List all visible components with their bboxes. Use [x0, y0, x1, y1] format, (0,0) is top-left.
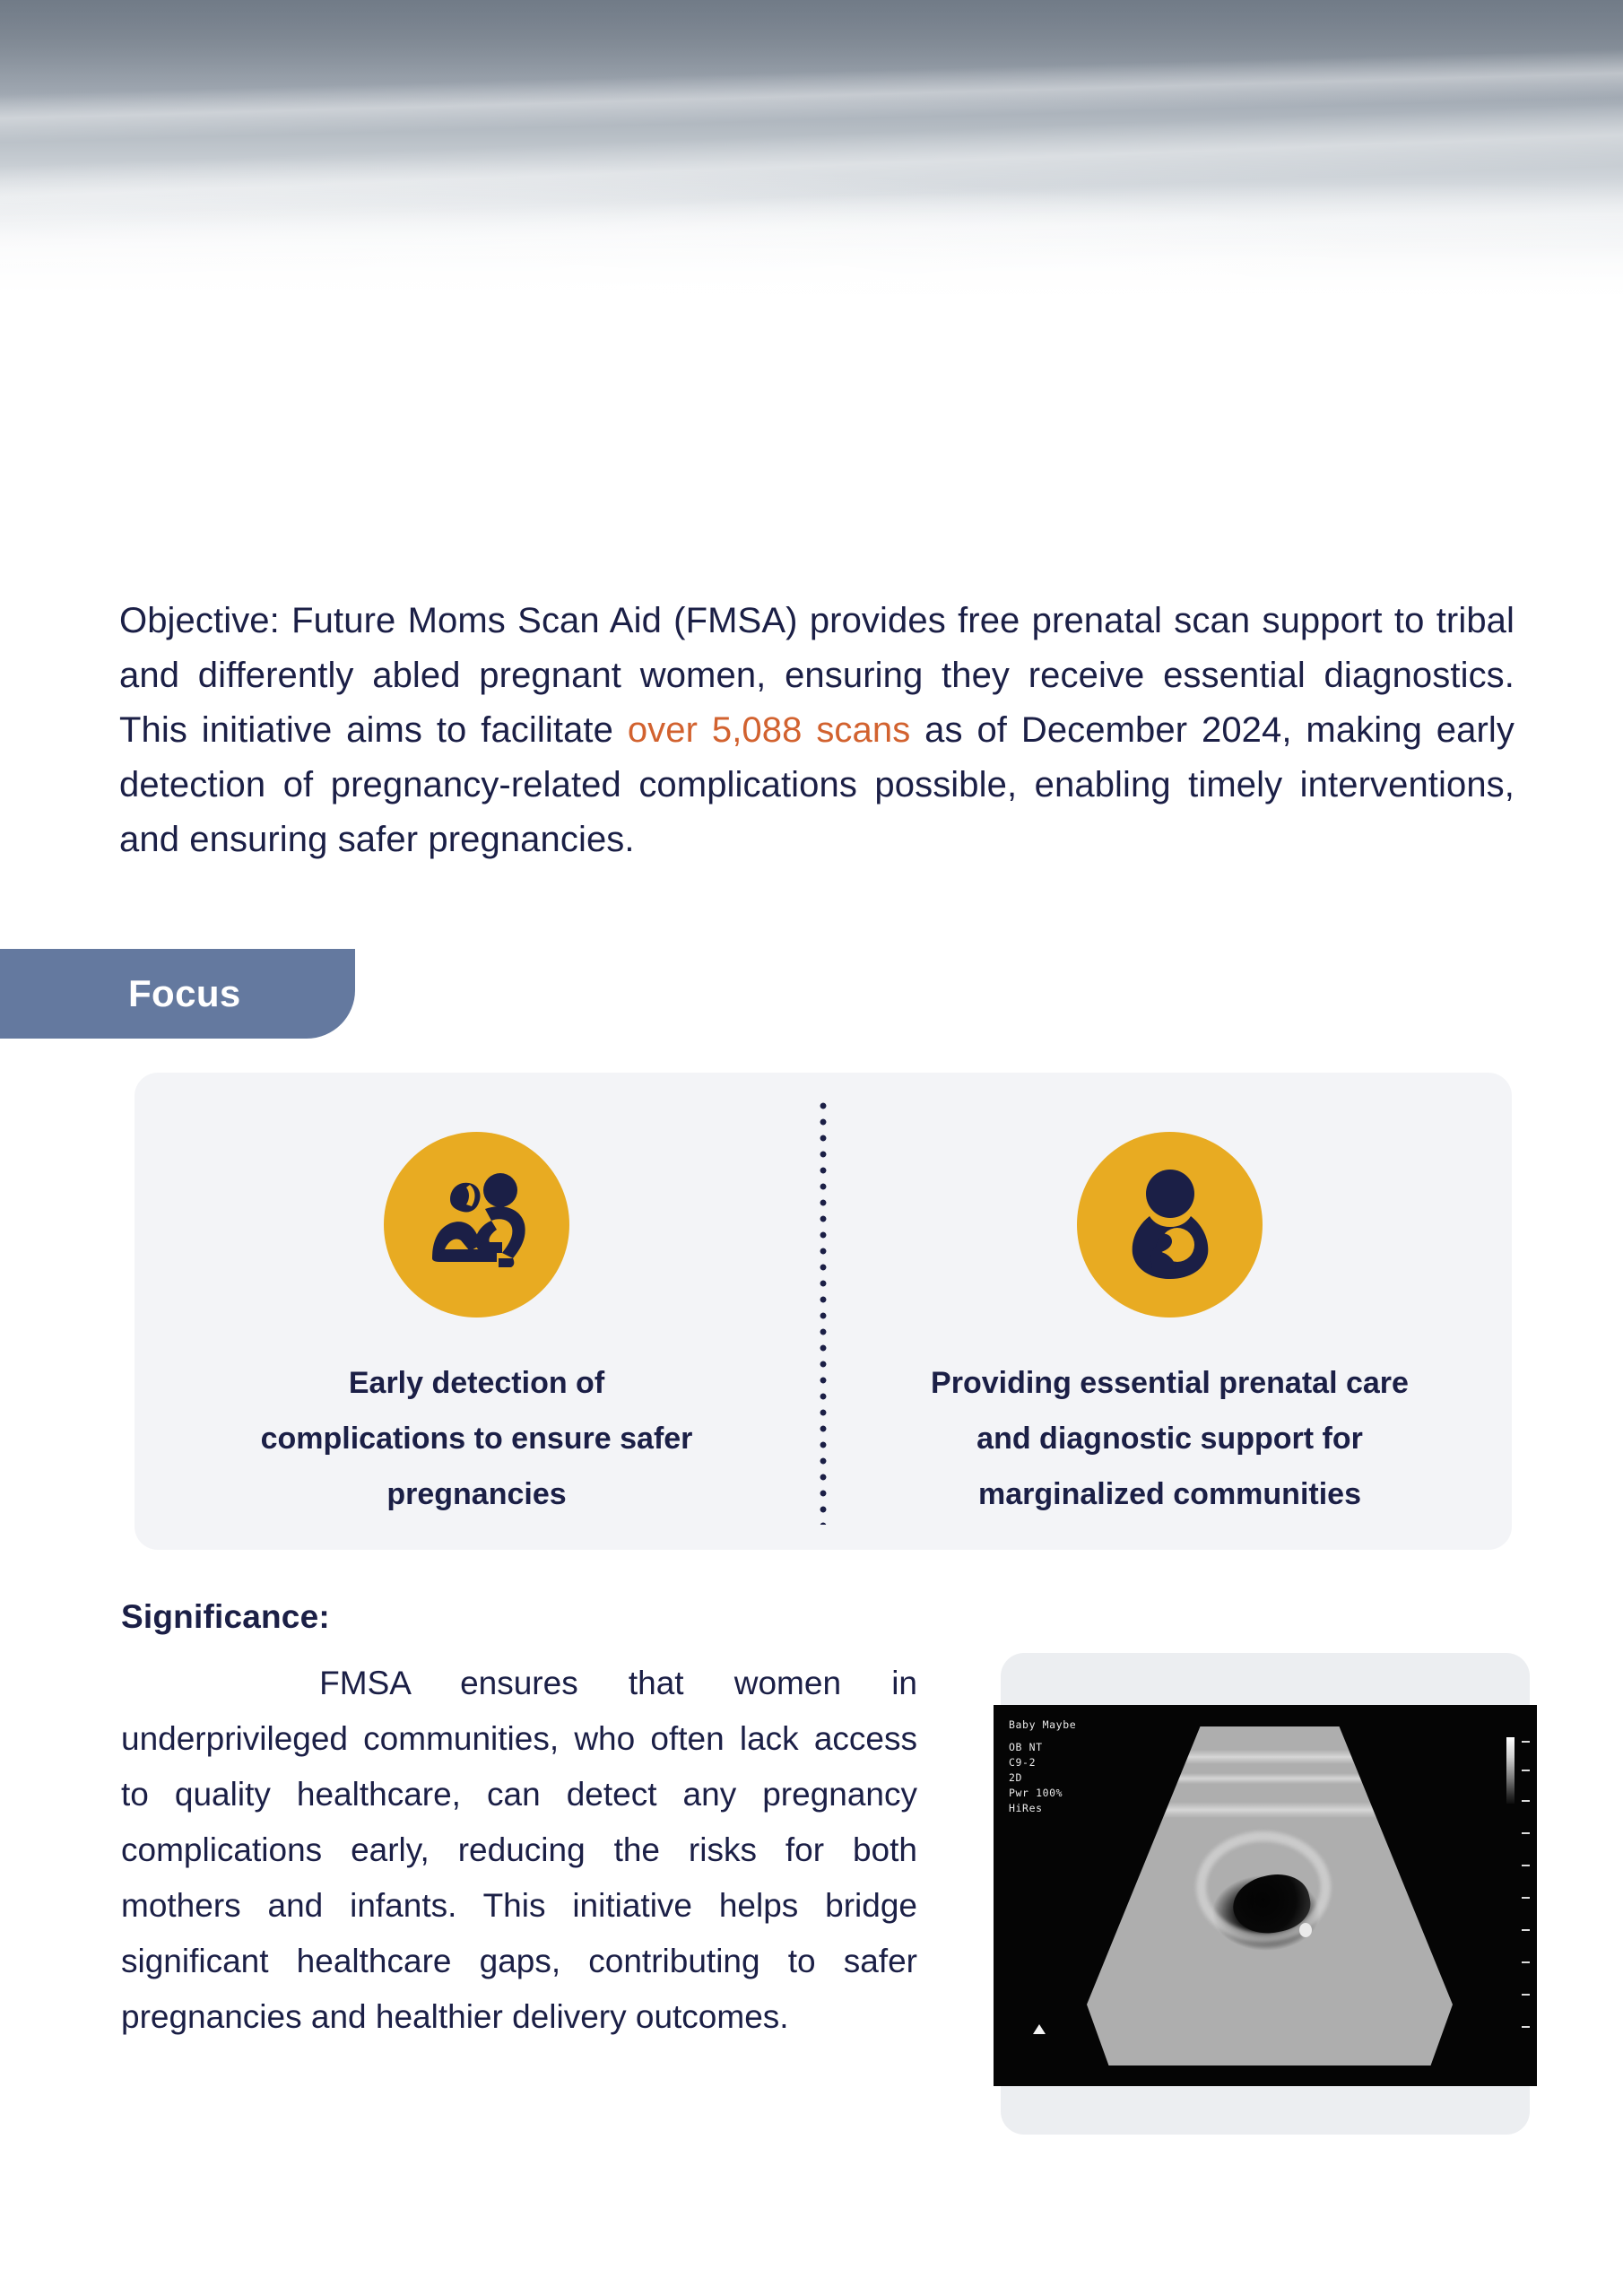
depth-tick [1522, 2026, 1530, 2028]
depth-tick [1522, 1832, 1530, 1834]
depth-tick [1522, 1994, 1530, 1996]
depth-tick [1522, 1929, 1530, 1931]
significance-line-6: and infants. This initiative helps bridg… [268, 1887, 918, 1924]
depth-tick [1522, 1800, 1530, 1802]
focus-label-line-1: Providing essential prenatal care [931, 1366, 1409, 1400]
focus-label-line-3: pregnancies [386, 1477, 566, 1511]
us-mode: 2D [1009, 1771, 1022, 1784]
focus-label-line-2: and diagnostic support for [976, 1422, 1363, 1456]
tissue-band-3 [1087, 1802, 1453, 1818]
us-resolution: HiRes [1009, 1802, 1043, 1814]
ultrasound-grayscale-bar [1506, 1737, 1515, 1804]
focus-section-banner: Focus [0, 949, 355, 1039]
focus-column-label: Providing essential prenatal care and di… [931, 1355, 1409, 1522]
objective-highlight-scans: scans [816, 710, 910, 750]
significance-line-9: delivery outcomes. [512, 1998, 788, 2035]
fetal-pole [1299, 1923, 1312, 1937]
prenatal-ultrasound-scan: Baby MaybeOB NT C9-2 2D Pwr 100% HiRes [994, 1705, 1537, 2086]
tissue-band-2 [1087, 1773, 1453, 1784]
depth-tick [1522, 1961, 1530, 1963]
us-preset: OB NT [1009, 1741, 1043, 1753]
hero-sky-gradient [0, 0, 1623, 296]
focus-label-line-3: marginalized communities [978, 1477, 1361, 1511]
depth-tick [1522, 1770, 1530, 1771]
objective-highlight-count: over 5,088 [628, 710, 803, 750]
depth-tick [1522, 1897, 1530, 1899]
focus-label-line-2: complications to ensure safer [261, 1422, 693, 1456]
objective-line-6: pregnancies. [428, 820, 634, 859]
us-power: Pwr 100% [1009, 1787, 1063, 1799]
significance-line-7: significant healthcare gaps, contributin… [121, 1943, 760, 1979]
objective-line-1: Objective: Future Moms Scan Aid (FMSA) p… [119, 601, 1250, 640]
depth-tick [1522, 1865, 1530, 1866]
depth-tick [1522, 1741, 1530, 1743]
significance-line-2: underprivileged communities, who often [121, 1720, 725, 1757]
ultrasound-orientation-marker [1033, 2024, 1046, 2034]
significance-heading: Significance: [121, 1598, 330, 1636]
focus-card: Early detection of complications to ensu… [135, 1073, 1512, 1550]
focus-dotted-divider [819, 1098, 828, 1525]
us-probe: C9-2 [1009, 1756, 1036, 1769]
tissue-band-1 [1087, 1750, 1453, 1764]
ultrasound-overlay-text: Baby MaybeOB NT C9-2 2D Pwr 100% HiRes [1009, 1718, 1076, 1816]
focus-label-line-1: Early detection of [349, 1366, 604, 1400]
significance-line-1: FMSA ensures that women in [319, 1665, 917, 1701]
focus-banner-label: Focus [0, 972, 241, 1015]
objective-paragraph: Objective: Future Moms Scan Aid (FMSA) p… [119, 594, 1515, 867]
focus-column-early-detection: Early detection of complications to ensu… [135, 1073, 819, 1550]
significance-body: FMSA ensures that women in underprivileg… [121, 1656, 917, 2045]
mother-holding-baby-icon [1077, 1132, 1263, 1318]
prenatal-examination-icon [384, 1132, 569, 1318]
us-patient-label: Baby Maybe [1009, 1718, 1076, 1731]
focus-column-label: Early detection of complications to ensu… [261, 1355, 693, 1522]
focus-column-prenatal-care: Providing essential prenatal care and di… [828, 1073, 1512, 1550]
ultrasound-sector-cone [1087, 1726, 1453, 2066]
